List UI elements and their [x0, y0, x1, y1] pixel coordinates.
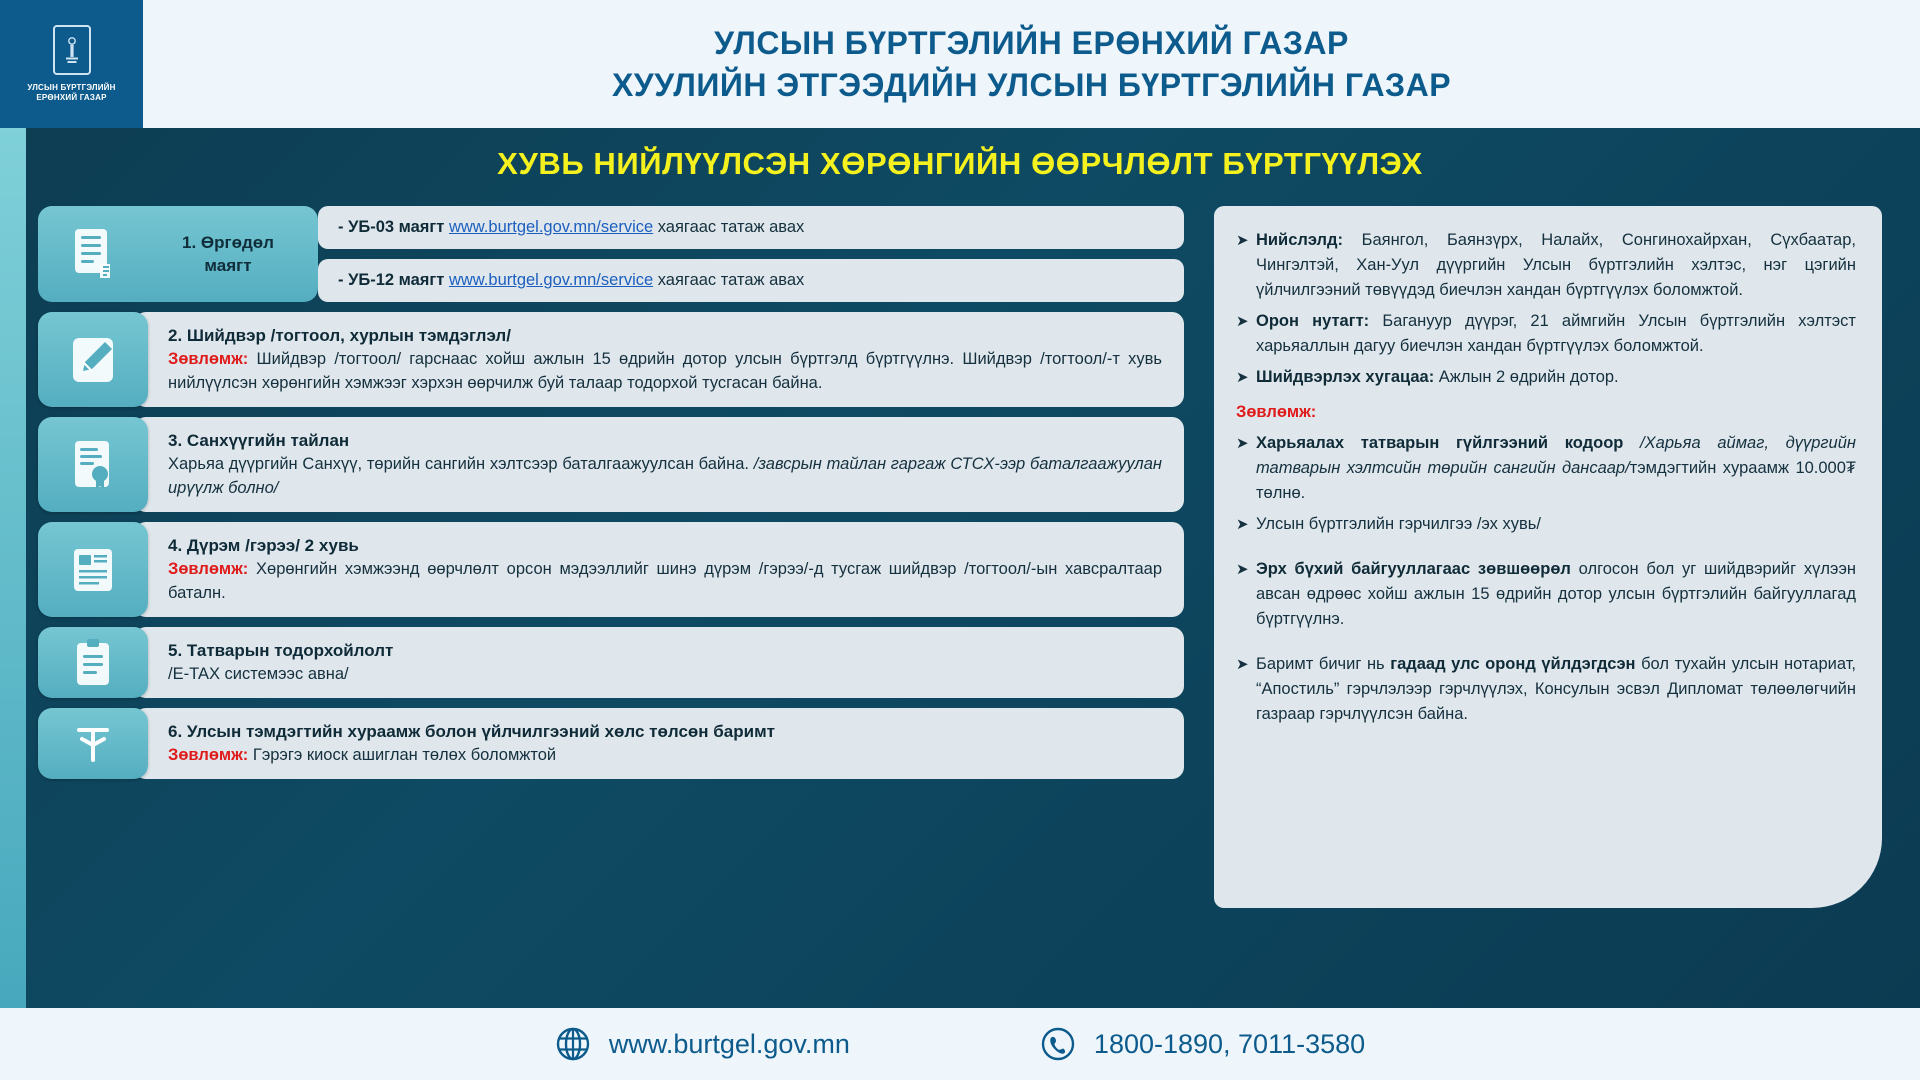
step-6-row: 6. Улсын тэмдэгтийн хураамж болон үйлчил…: [38, 708, 1184, 779]
logo-caption-line1: УЛСЫН БҮРТГЭЛИЙН: [27, 83, 115, 93]
info-item-capital-text: Нийслэлд: Баянгол, Баянзүрх, Налайх, Сон…: [1256, 228, 1856, 303]
step-4-title: 4. Дүрэм /гэрээ/ 2 хувь: [168, 534, 1162, 557]
step-2-row: 2. Шийдвэр /тогтоол, хурлын тэмдэглэл/ З…: [38, 312, 1184, 407]
form-ub03: - УБ-03 маягт www.burtgel.gov.mn/service…: [318, 206, 1184, 249]
bullet-arrow-icon: ➤: [1236, 228, 1256, 303]
step-6-body: Гэрэгэ киоск ашиглан төлөх боломжтой: [248, 746, 556, 764]
step-3-title: 3. Санхүүгийн тайлан: [168, 429, 1162, 452]
recommendation-heading: Зөвлөмж:: [1236, 400, 1856, 425]
info-item-duration-text: Шийдвэрлэх хугацаа: Ажлын 2 өдрийн дотор…: [1256, 365, 1856, 390]
panel-spacer: [1236, 638, 1856, 652]
rec-item-tax-code: ➤ Харьяалах татварын гүйлгээний кодоор /…: [1236, 431, 1856, 506]
step-1-tile: 1. Өргөдөл маягт: [38, 206, 318, 302]
rec-item-permission-label: Эрх бүхий байгууллагаас зөвшөөрөл: [1256, 560, 1571, 578]
info-item-capital-label: Нийслэлд:: [1256, 231, 1343, 249]
step-6-title: 6. Улсын тэмдэгтийн хураамж болон үйлчил…: [168, 720, 1162, 743]
info-item-duration-label: Шийдвэрлэх хугацаа:: [1256, 368, 1434, 386]
form-ub03-prefix: - УБ-03 маягт: [338, 218, 449, 236]
step-3-text: Харьяа дүүргийн Санхүү, төрийн сангийн х…: [168, 452, 1162, 500]
step-3-card: 3. Санхүүгийн тайлан Харьяа дүүргийн Сан…: [134, 417, 1184, 512]
info-item-rural-label: Орон нутагт:: [1256, 312, 1369, 330]
form-ub12-link[interactable]: www.burtgel.gov.mn/service: [449, 271, 653, 289]
header-title-block: УЛСЫН БҮРТГЭЛИЙН ЕРӨНХИЙ ГАЗАР ХУУЛИЙН Э…: [143, 0, 1920, 128]
panel-spacer: [1236, 543, 1856, 557]
step-4-body: Хөрөнгийн хэмжээнд өөрчлөлт орсон мэдээл…: [168, 560, 1162, 602]
step-5-card: 5. Татварын тодорхойлолт /E-TAX системээ…: [134, 627, 1184, 698]
logo-caption: УЛСЫН БҮРТГЭЛИЙН ЕРӨНХИЙ ГАЗАР: [27, 83, 115, 103]
rec-item-foreign-docs-pre: Баримт бичиг нь: [1256, 655, 1390, 673]
info-item-duration: ➤ Шийдвэрлэх хугацаа: Ажлын 2 өдрийн дот…: [1236, 365, 1856, 390]
form-ub12-prefix: - УБ-12 маягт: [338, 271, 449, 289]
step-1-forms: - УБ-03 маягт www.burtgel.gov.mn/service…: [304, 206, 1184, 302]
step-1-row: 1. Өргөдөл маягт - УБ-03 маягт www.burtg…: [38, 206, 1184, 302]
step-5-row: 5. Татварын тодорхойлолт /E-TAX системээ…: [38, 627, 1184, 698]
step-4-row: 4. Дүрэм /гэрээ/ 2 хувь Зөвлөмж: Хөрөнги…: [38, 522, 1184, 617]
pencil-edit-icon: [38, 312, 148, 407]
bullet-arrow-icon: ➤: [1236, 309, 1256, 359]
step-3-row: 3. Санхүүгийн тайлан Харьяа дүүргийн Сан…: [38, 417, 1184, 512]
info-item-duration-body: Ажлын 2 өдрийн дотор.: [1434, 368, 1618, 386]
tugrik-currency-icon: [38, 708, 148, 779]
left-accent-rail: [0, 128, 26, 1008]
rec-item-permission: ➤ Эрх бүхий байгууллагаас зөвшөөрөл олго…: [1236, 557, 1856, 632]
rules-document-icon: [38, 522, 148, 617]
content-body: ХУВЬ НИЙЛҮҮЛСЭН ХӨРӨНГИЙН ӨӨРЧЛӨЛТ БҮРТГ…: [0, 128, 1920, 1008]
logo-caption-line2: ЕРӨНХИЙ ГАЗАР: [27, 93, 115, 103]
step-4-rec-label: Зөвлөмж:: [168, 560, 248, 578]
phone-icon: [1040, 1026, 1076, 1062]
step-1-label: 1. Өргөдөл маягт: [148, 231, 318, 277]
footer-website[interactable]: www.burtgel.gov.mn: [555, 1026, 850, 1062]
bullet-arrow-icon: ➤: [1236, 431, 1256, 506]
info-item-rural: ➤ Орон нутагт: Багануур дүүрэг, 21 аймги…: [1236, 309, 1856, 359]
step-6-rec-label: Зөвлөмж:: [168, 746, 248, 764]
rec-item-foreign-docs-text: Баримт бичиг нь гадаад улс оронд үйлдэгд…: [1256, 652, 1856, 727]
info-panel: ➤ Нийслэлд: Баянгол, Баянзүрх, Налайх, С…: [1214, 206, 1882, 908]
soyombo-emblem-icon: [53, 25, 91, 75]
footer-phone: 1800-1890, 7011-3580: [1040, 1026, 1365, 1062]
form-ub03-suffix: хаягаас татаж авах: [653, 218, 804, 236]
step-5-text: /E-TAX системээс авна/: [168, 662, 1162, 686]
organization-logo: УЛСЫН БҮРТГЭЛИЙН ЕРӨНХИЙ ГАЗАР: [0, 0, 143, 128]
info-item-capital: ➤ Нийслэлд: Баянгол, Баянзүрх, Налайх, С…: [1236, 228, 1856, 303]
step-2-title: 2. Шийдвэр /тогтоол, хурлын тэмдэглэл/: [168, 324, 1162, 347]
header-title-line2: ХУУЛИЙН ЭТГЭЭДИЙН УЛСЫН БҮРТГЭЛИЙН ГАЗАР: [612, 64, 1451, 106]
bullet-arrow-icon: ➤: [1236, 365, 1256, 390]
page-title: ХУВЬ НИЙЛҮҮЛСЭН ХӨРӨНГИЙН ӨӨРЧЛӨЛТ БҮРТГ…: [0, 146, 1920, 182]
page-footer: www.burtgel.gov.mn 1800-1890, 7011-3580: [0, 1008, 1920, 1080]
step-5-title: 5. Татварын тодорхойлолт: [168, 639, 1162, 662]
globe-icon: [555, 1026, 591, 1062]
rec-item-permission-text: Эрх бүхий байгууллагаас зөвшөөрөл олгосо…: [1256, 557, 1856, 632]
step-2-rec-label: Зөвлөмж:: [168, 350, 248, 368]
steps-column: 1. Өргөдөл маягт - УБ-03 маягт www.burtg…: [38, 206, 1184, 789]
certificate-document-icon: [38, 417, 148, 512]
step-4-card: 4. Дүрэм /гэрээ/ 2 хувь Зөвлөмж: Хөрөнги…: [134, 522, 1184, 617]
step-4-text: Зөвлөмж: Хөрөнгийн хэмжээнд өөрчлөлт орс…: [168, 557, 1162, 605]
step-6-text: Зөвлөмж: Гэрэгэ киоск ашиглан төлөх боло…: [168, 743, 1162, 767]
rec-item-certificate-text: Улсын бүртгэлийн гэрчилгээ /эх хувь/: [1256, 512, 1856, 537]
poster-page: УЛСЫН БҮРТГЭЛИЙН ЕРӨНХИЙ ГАЗАР УЛСЫН БҮР…: [0, 0, 1920, 1080]
step-2-text: Зөвлөмж: Шийдвэр /тогтоол/ гарснаас хойш…: [168, 347, 1162, 395]
clipboard-icon: [38, 627, 148, 698]
info-item-rural-text: Орон нутагт: Багануур дүүрэг, 21 аймгийн…: [1256, 309, 1856, 359]
footer-website-text[interactable]: www.burtgel.gov.mn: [609, 1029, 850, 1060]
step-2-body: Шийдвэр /тогтоол/ гарснаас хойш ажлын 15…: [168, 350, 1162, 392]
rec-item-foreign-docs-label: гадаад улс оронд үйлдэгдсэн: [1390, 655, 1635, 673]
step-2-card: 2. Шийдвэр /тогтоол, хурлын тэмдэглэл/ З…: [134, 312, 1184, 407]
step-3-body: Харьяа дүүргийн Санхүү, төрийн сангийн х…: [168, 455, 754, 473]
bullet-arrow-icon: ➤: [1236, 512, 1256, 537]
document-icon: [38, 226, 148, 282]
bullet-arrow-icon: ➤: [1236, 652, 1256, 727]
step-1-label-line2: маягт: [148, 254, 308, 277]
page-header: УЛСЫН БҮРТГЭЛИЙН ЕРӨНХИЙ ГАЗАР УЛСЫН БҮР…: [0, 0, 1920, 128]
footer-phone-text: 1800-1890, 7011-3580: [1094, 1029, 1365, 1060]
form-ub03-link[interactable]: www.burtgel.gov.mn/service: [449, 218, 653, 236]
form-ub12: - УБ-12 маягт www.burtgel.gov.mn/service…: [318, 259, 1184, 302]
bullet-arrow-icon: ➤: [1236, 557, 1256, 632]
rec-item-foreign-docs: ➤ Баримт бичиг нь гадаад улс оронд үйлдэ…: [1236, 652, 1856, 727]
rec-item-tax-code-label: Харьяалах татварын гүйлгээний кодоор: [1256, 434, 1623, 452]
step-1-label-line1: 1. Өргөдөл: [148, 231, 308, 254]
info-item-capital-body: Баянгол, Баянзүрх, Налайх, Сонгинохайрха…: [1256, 231, 1856, 299]
step-6-card: 6. Улсын тэмдэгтийн хураамж болон үйлчил…: [134, 708, 1184, 779]
rec-item-tax-code-text: Харьяалах татварын гүйлгээний кодоор /Ха…: [1256, 431, 1856, 506]
header-title-line1: УЛСЫН БҮРТГЭЛИЙН ЕРӨНХИЙ ГАЗАР: [714, 22, 1349, 64]
rec-item-certificate: ➤ Улсын бүртгэлийн гэрчилгээ /эх хувь/: [1236, 512, 1856, 537]
form-ub12-suffix: хаягаас татаж авах: [653, 271, 804, 289]
